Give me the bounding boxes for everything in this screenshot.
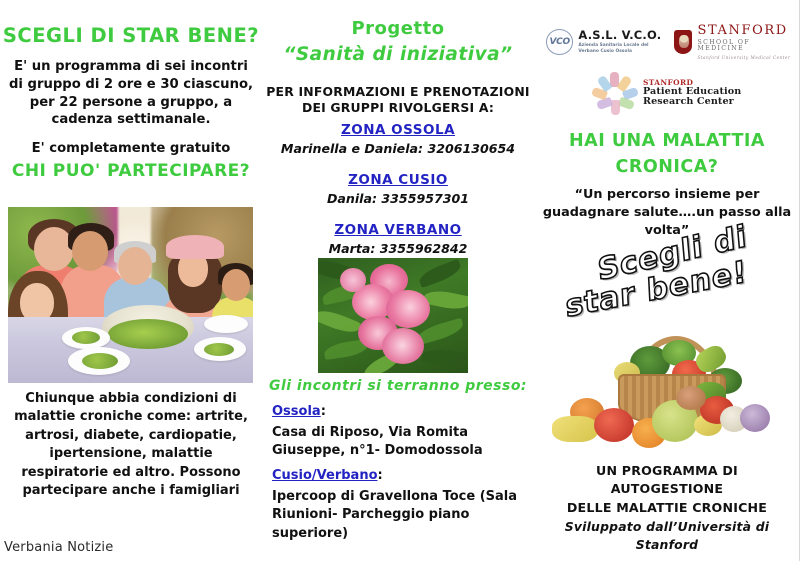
zone-ossola-heading[interactable]: ZONA OSSOLA [262,122,534,138]
photo-plate-food [72,331,100,344]
photo-onion [740,404,770,432]
photo-plate-food [82,353,118,369]
stanford-patient-education-research-center-logo: STANFORD Patient Education Research Cent… [592,70,752,116]
watermark-verbania-notizie: Verbania Notizie [4,540,113,555]
venues-heading: Gli incontri si terranno presso: [262,378,534,394]
program-line-2: DELLE MALATTIE CRONICHE [567,500,767,515]
asl-vco-oval-icon: VCO [546,29,573,55]
right-title-line-2: CRONICA? [616,157,719,177]
asl-vco-logo: VCO A.S.L. V.C.O. Azienda Sanitaria Loca… [546,24,662,60]
asl-vco-text: A.S.L. V.C.O. Azienda Sanitaria Locale d… [578,30,662,55]
venue-ossola-label[interactable]: Ossola: [272,404,326,419]
left-column: SCEGLI DI STAR BENE? E' un programma di … [0,0,262,561]
photo-person-boy-face [222,269,250,301]
zone-verbano-heading[interactable]: ZONA VERBANO [262,222,534,238]
project-title-line-2: “Sanità di iniziativa” [262,42,534,69]
project-title: Progetto “Sanità di iniziativa” [262,16,534,69]
right-title-line-1: HAI UNA MALATTIA [569,131,765,151]
venue-ossola-address: Casa di Riposo, Via Romita Giuseppe, n°1… [272,424,528,461]
right-quote: “Un percorso insieme per guadagnare salu… [538,186,796,240]
program-footer: UN PROGRAMMA DI AUTOGESTIONE DELLE MALAT… [538,462,796,554]
pink-rhododendron-flowers-photo [318,258,468,373]
photo-plate [204,315,248,333]
program-line-3: Sviluppato dall’Università di Stanford [538,518,796,554]
stanford-name: STANFORD [697,24,792,37]
photo-bananas [552,416,598,442]
photo-leaf [417,259,463,288]
photo-salad-greens [108,319,188,349]
perc-text: STANFORD Patient Education Research Cent… [643,79,741,108]
photo-flower-bloom [340,268,366,292]
program-line-1: UN PROGRAMMA DI AUTOGESTIONE [596,463,738,496]
venue-ossola-label-text: Ossola [272,404,321,419]
left-paragraph-free: E' completamente gratuito [6,140,256,158]
brochure-page: SCEGLI DI STAR BENE? E' un programma di … [0,0,800,561]
left-title: SCEGLI DI STAR BENE? [0,24,262,47]
zone-cusio-contact: Danila: 3355957301 [262,190,534,207]
right-column: VCO A.S.L. V.C.O. Azienda Sanitaria Loca… [534,0,800,561]
middle-column: Progetto “Sanità di iniziativa” PER INFO… [262,0,534,561]
venue-cusio-verbano-label-text: Cusio/Verbano [272,468,378,483]
left-paragraph-program-details: E' un programma di sei incontri di grupp… [6,58,256,129]
venue-cusio-verbano-address: Ipercoop di Gravellona Toce (Sala Riunio… [272,488,532,543]
left-paragraph-conditions: Chiunque abbia condizioni di malattie cr… [4,390,258,501]
person-figure [618,97,635,111]
asl-vco-name: A.S.L. V.C.O. [578,30,662,42]
stanford-text: STANFORD SCHOOL OF MEDICINE Stanford Uni… [697,24,792,60]
zone-cusio-heading[interactable]: ZONA CUSIO [262,172,534,188]
stanford-school-of-medicine-logo: STANFORD SCHOOL OF MEDICINE Stanford Uni… [674,22,792,62]
stanford-medical-center-label: Stanford University Medical Center [697,56,792,60]
perc-line-3: Research Center [643,97,741,107]
photo-potato [676,386,706,410]
photo-plate-food [204,343,234,356]
venue-cusio-verbano-label[interactable]: Cusio/Verbano: [272,468,383,483]
logos-row: VCO A.S.L. V.C.O. Azienda Sanitaria Loca… [534,14,800,120]
photo-person-man-face [72,231,108,271]
zone-ossola-contact: Marinella e Daniela: 3206130654 [262,140,534,157]
right-title: HAI UNA MALATTIA CRONICA? [534,128,800,181]
photo-leaf [421,347,467,368]
left-subtitle-who-can-participate: CHI PUO' PARTECIPARE? [0,161,262,181]
wordart-scegli-di-star-bene: Scegli di star bene! [554,238,780,324]
zone-verbano-contact: Marta: 3355962842 [262,240,534,257]
photo-person-grandfather-face [118,247,152,285]
photo-flower-bloom [382,328,424,364]
stanford-shield-icon [674,30,692,54]
project-title-line-1: Progetto [351,18,444,39]
stanford-school-label: SCHOOL OF MEDICINE [697,40,792,52]
basket-of-fruit-and-vegetables-photo [544,322,790,454]
asl-vco-subtitle: Azienda Sanitaria Locale del Verbano Cus… [578,43,662,54]
family-eating-outdoors-photo [8,207,253,383]
info-heading: PER INFORMAZIONI E PRENOTAZIONI DEI GRUP… [264,84,532,117]
photo-person-woman-hat [166,235,224,259]
people-circle-icon [592,72,638,114]
photo-apple [594,408,634,442]
